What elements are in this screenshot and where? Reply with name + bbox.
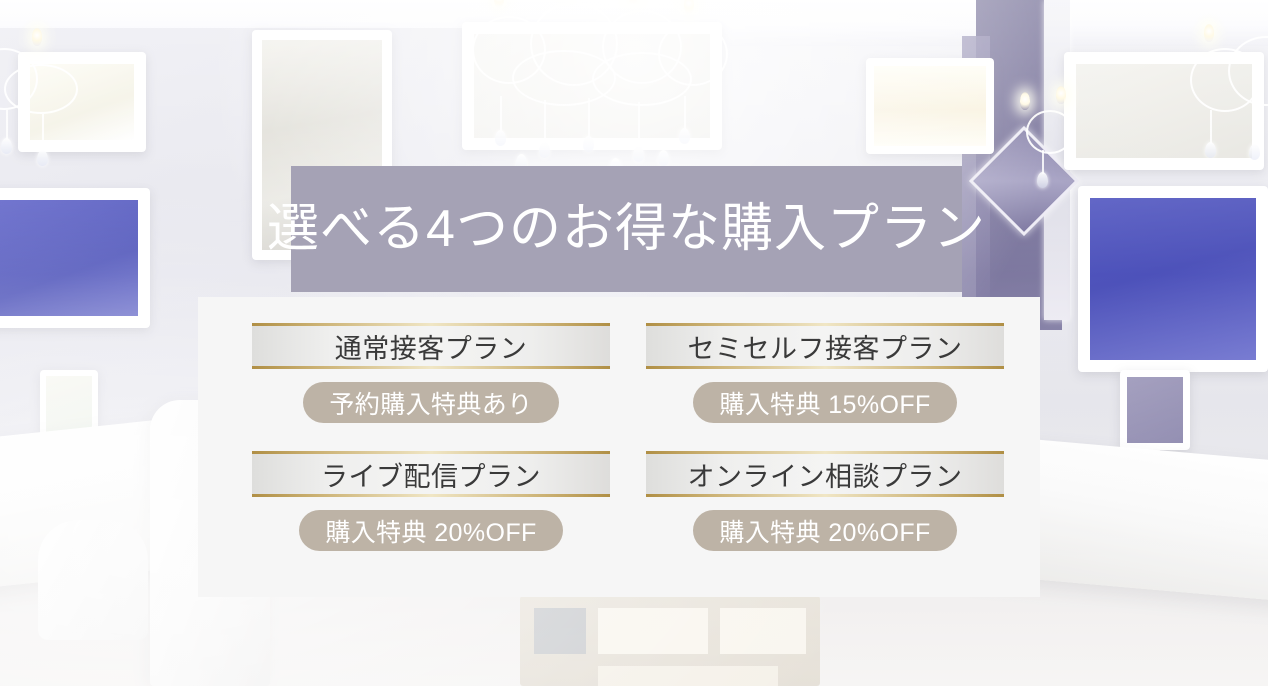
plan-benefit-badge: 購入特典 15%OFF <box>693 382 956 423</box>
plan-card-normal[interactable]: 通常接客プラン 予約購入特典あり <box>252 323 610 423</box>
plan-badge-row: 購入特典 20%OFF <box>252 510 610 551</box>
plan-badge-row: 予約購入特典あり <box>252 382 610 423</box>
plans-grid: 通常接客プラン 予約購入特典あり セミセルフ接客プラン 購入特典 15%OFF … <box>252 323 1004 551</box>
plan-card-online-consultation[interactable]: オンライン相談プラン 購入特典 20%OFF <box>646 451 1004 551</box>
plan-badge-row: 購入特典 15%OFF <box>646 382 1004 423</box>
plan-card-semi-self[interactable]: セミセルフ接客プラン 購入特典 15%OFF <box>646 323 1004 423</box>
page-title: 選べる4つのお得な購入プラン <box>267 203 986 255</box>
plan-benefit-badge: 購入特典 20%OFF <box>693 510 956 551</box>
plan-title: 通常接客プラン <box>335 327 528 366</box>
promo-banner: 選べる4つのお得な購入プラン 通常接客プラン 予約購入特典あり セミセルフ接客プ… <box>0 0 1268 686</box>
plans-panel: 通常接客プラン 予約購入特典あり セミセルフ接客プラン 購入特典 15%OFF … <box>198 297 1040 597</box>
plan-title: セミセルフ接客プラン <box>688 327 963 366</box>
plan-title: ライブ配信プラン <box>321 455 541 494</box>
plan-title-bar: 通常接客プラン <box>252 323 610 369</box>
plan-card-live-streaming[interactable]: ライブ配信プラン 購入特典 20%OFF <box>252 451 610 551</box>
plan-title-bar: セミセルフ接客プラン <box>646 323 1004 369</box>
plan-benefit-badge: 購入特典 20%OFF <box>299 510 562 551</box>
plan-title-bar: ライブ配信プラン <box>252 451 610 497</box>
plan-title-bar: オンライン相談プラン <box>646 451 1004 497</box>
plan-title: オンライン相談プラン <box>688 455 963 494</box>
plan-benefit-badge: 予約購入特典あり <box>303 382 558 423</box>
hero-title-band: 選べる4つのお得な購入プラン <box>291 166 962 292</box>
plan-badge-row: 購入特典 20%OFF <box>646 510 1004 551</box>
